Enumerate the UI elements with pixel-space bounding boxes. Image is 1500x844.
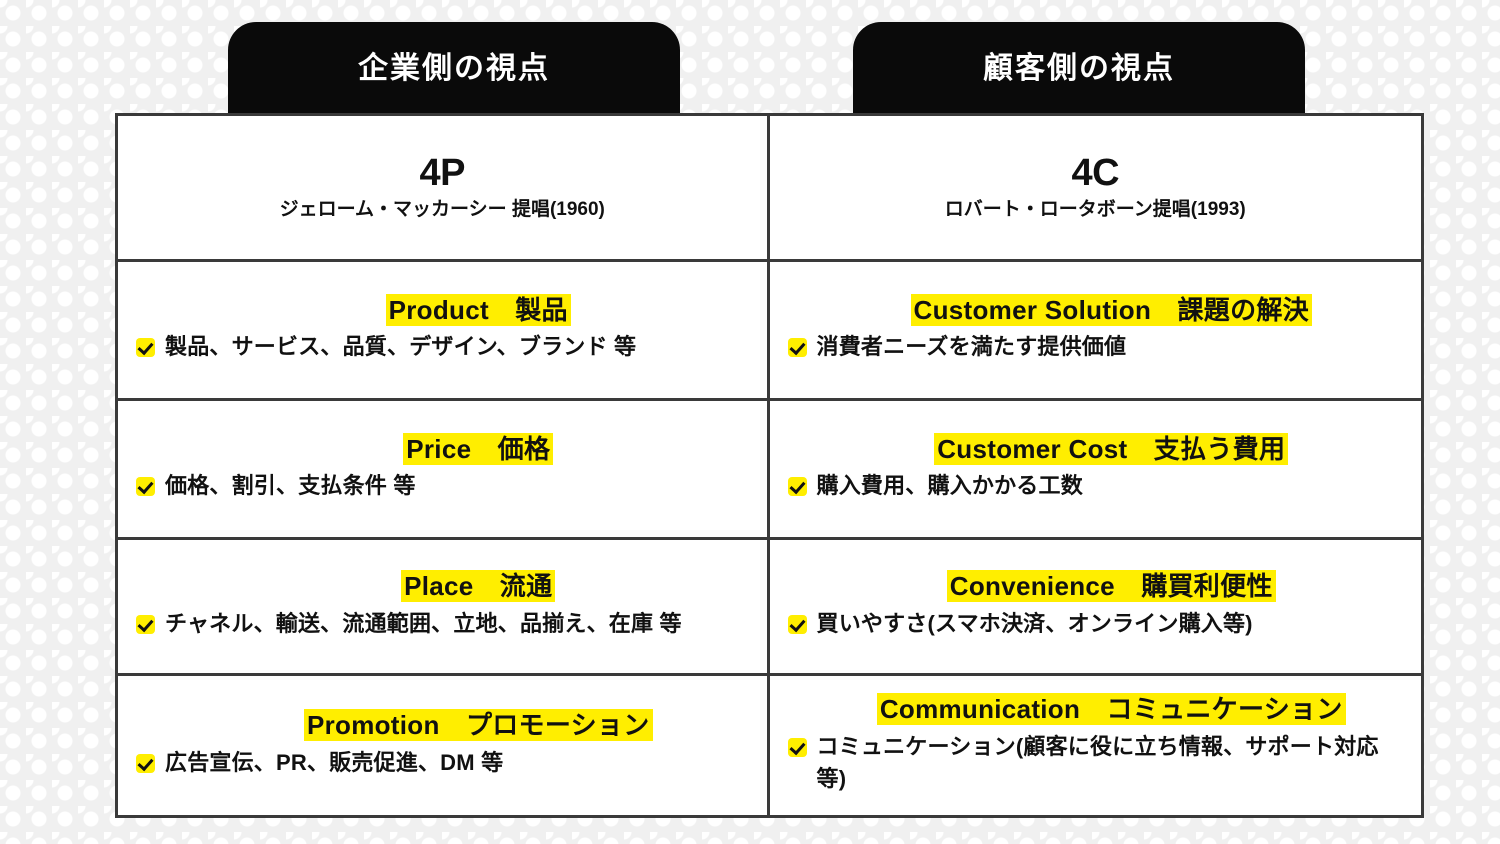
heading-price: Price 価格 bbox=[164, 436, 753, 463]
check-icon bbox=[788, 738, 807, 757]
cell-place: Place 流通 チャネル、輸送、流通範囲、立地、品揃え、在庫 等 bbox=[118, 540, 770, 673]
cell-price: Price 価格 価格、割引、支払条件 等 bbox=[118, 401, 770, 537]
tab-company-perspective[interactable]: 企業側の視点 bbox=[228, 22, 680, 114]
model-attribution-4c: ロバート・ロータボーン提唱(1993) bbox=[786, 200, 1406, 221]
heading-customer-solution: Customer Solution 課題の解決 bbox=[816, 297, 1408, 324]
tab-customer-perspective[interactable]: 顧客側の視点 bbox=[853, 22, 1305, 114]
cell-customer-solution: Customer Solution 課題の解決 消費者ニーズを満たす提供価値 bbox=[770, 262, 1422, 398]
model-title-4c: 4C bbox=[786, 154, 1406, 192]
cell-communication: Communication コミュニケーション コミュニケーション(顧客に役に立… bbox=[770, 676, 1422, 815]
tab-customer-perspective-label: 顧客側の視点 bbox=[983, 43, 1175, 87]
list-item: 広告宣伝、PR、販売促進、DM 等 bbox=[136, 747, 753, 779]
check-icon bbox=[788, 477, 807, 496]
table-row: Product 製品 製品、サービス、品質、デザイン、ブランド 等 Custom… bbox=[118, 262, 1421, 401]
list-item: 購入費用、購入かかる工数 bbox=[788, 470, 1408, 502]
heading-promotion: Promotion プロモーション bbox=[164, 712, 753, 739]
list-item-label: 広告宣伝、PR、販売促進、DM 等 bbox=[165, 747, 503, 779]
cell-customer-cost: Customer Cost 支払う費用 購入費用、購入かかる工数 bbox=[770, 401, 1422, 537]
model-attribution-4p: ジェローム・マッカーシー 提唱(1960) bbox=[134, 200, 751, 221]
table-row: Place 流通 チャネル、輸送、流通範囲、立地、品揃え、在庫 等 Conven… bbox=[118, 540, 1421, 676]
list-item: 製品、サービス、品質、デザイン、ブランド 等 bbox=[136, 331, 753, 363]
list-item: 消費者ニーズを満たす提供価値 bbox=[788, 331, 1408, 363]
check-icon bbox=[788, 615, 807, 634]
heading-customer-cost: Customer Cost 支払う費用 bbox=[816, 436, 1408, 463]
check-icon bbox=[136, 754, 155, 773]
table-row-header: 4P ジェローム・マッカーシー 提唱(1960) 4C ロバート・ロータボーン提… bbox=[118, 116, 1421, 262]
comparison-table: 4P ジェローム・マッカーシー 提唱(1960) 4C ロバート・ロータボーン提… bbox=[115, 113, 1424, 818]
cell-convenience: Convenience 購買利便性 買いやすさ(スマホ決済、オンライン購入等) bbox=[770, 540, 1422, 673]
cell-promotion: Promotion プロモーション 広告宣伝、PR、販売促進、DM 等 bbox=[118, 676, 770, 815]
cell-product: Product 製品 製品、サービス、品質、デザイン、ブランド 等 bbox=[118, 262, 770, 398]
check-icon bbox=[136, 615, 155, 634]
heading-convenience: Convenience 購買利便性 bbox=[816, 573, 1408, 600]
slide-canvas: 企業側の視点 顧客側の視点 4P ジェローム・マッカーシー 提唱(1960) 4… bbox=[0, 0, 1500, 844]
list-item-label: 購入費用、購入かかる工数 bbox=[817, 470, 1083, 502]
cell-4p-header: 4P ジェローム・マッカーシー 提唱(1960) bbox=[118, 116, 770, 259]
list-item: チャネル、輸送、流通範囲、立地、品揃え、在庫 等 bbox=[136, 608, 753, 640]
check-icon bbox=[136, 338, 155, 357]
model-title-4p: 4P bbox=[134, 154, 751, 192]
list-item-label: 製品、サービス、品質、デザイン、ブランド 等 bbox=[165, 331, 636, 363]
list-item: コミュニケーション(顧客に役に立ち情報、サポート対応等) bbox=[788, 731, 1408, 795]
list-item-label: コミュニケーション(顧客に役に立ち情報、サポート対応等) bbox=[817, 731, 1408, 795]
check-icon bbox=[136, 477, 155, 496]
heading-communication: Communication コミュニケーション bbox=[816, 696, 1408, 723]
list-item: 買いやすさ(スマホ決済、オンライン購入等) bbox=[788, 608, 1408, 640]
check-icon bbox=[788, 338, 807, 357]
list-item-label: チャネル、輸送、流通範囲、立地、品揃え、在庫 等 bbox=[165, 608, 682, 640]
table-row: Promotion プロモーション 広告宣伝、PR、販売促進、DM 等 Comm… bbox=[118, 676, 1421, 815]
list-item-label: 消費者ニーズを満たす提供価値 bbox=[817, 331, 1127, 363]
heading-place: Place 流通 bbox=[164, 573, 753, 600]
cell-4c-header: 4C ロバート・ロータボーン提唱(1993) bbox=[770, 116, 1422, 259]
table-row: Price 価格 価格、割引、支払条件 等 Customer Cost 支払う費… bbox=[118, 401, 1421, 540]
tab-company-perspective-label: 企業側の視点 bbox=[358, 43, 550, 87]
list-item: 価格、割引、支払条件 等 bbox=[136, 470, 753, 502]
list-item-label: 価格、割引、支払条件 等 bbox=[165, 470, 416, 502]
heading-product: Product 製品 bbox=[164, 297, 753, 324]
list-item-label: 買いやすさ(スマホ決済、オンライン購入等) bbox=[817, 608, 1253, 640]
